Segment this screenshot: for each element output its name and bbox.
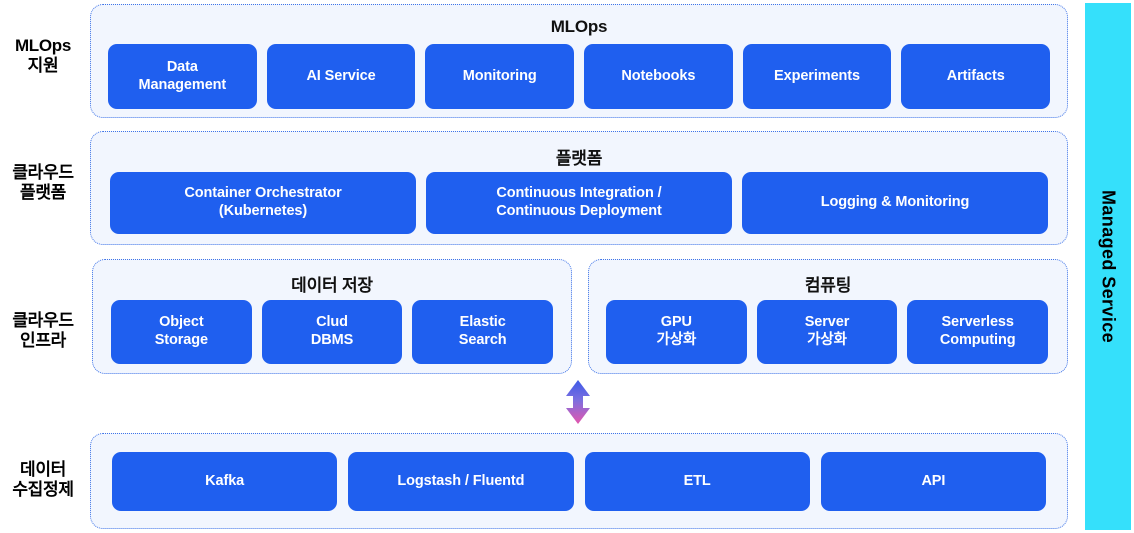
box-label-line-1: Server: [805, 314, 850, 332]
box-label-line-2: Continuous Deployment: [496, 203, 661, 221]
box-label-line-1: Monitoring: [463, 68, 537, 86]
box-ci-cd[interactable]: Continuous Integration / Continuous Depl…: [426, 172, 732, 234]
box-label-line-1: Notebooks: [621, 68, 695, 86]
box-artifacts[interactable]: Artifacts: [901, 44, 1050, 109]
box-logstash-fluentd[interactable]: Logstash / Fluentd: [348, 452, 573, 511]
box-api[interactable]: API: [821, 452, 1046, 511]
box-label-line-2: DBMS: [311, 332, 353, 350]
row-label-line-2: 지원: [0, 56, 86, 76]
row-label-data-ingestion: 데이터 수집정제: [0, 460, 86, 500]
box-row-mlops: Data Management AI Service Monitoring No…: [108, 44, 1050, 109]
box-object-storage[interactable]: Object Storage: [111, 300, 252, 364]
box-data-management[interactable]: Data Management: [108, 44, 257, 109]
row-label-line-1: MLOps: [0, 36, 86, 56]
box-label-line-2: (Kubernetes): [184, 203, 341, 221]
row-label-line-1: 클라우드: [0, 163, 86, 183]
box-label-line-1: Clud: [311, 314, 353, 332]
box-row-data-ingestion: Kafka Logstash / Fluentd ETL API: [112, 452, 1046, 511]
box-label-line-1: Elastic: [459, 314, 507, 332]
box-label-line-2: Storage: [155, 332, 208, 350]
box-label-line-1: Experiments: [774, 68, 860, 86]
box-etl[interactable]: ETL: [585, 452, 810, 511]
row-label-line-1: 클라우드: [0, 311, 86, 331]
managed-service-bar: Managed Service: [1085, 3, 1131, 530]
group-title-mlops: MLOps: [91, 17, 1067, 37]
box-label-line-2: 가상화: [805, 332, 850, 350]
box-label-line-1: Container Orchestrator: [184, 185, 341, 203]
row-label-line-2: 인프라: [0, 331, 86, 351]
architecture-diagram: MLOps 지원 MLOps Data Management AI Servic…: [0, 0, 1134, 533]
box-elastic-search[interactable]: Elastic Search: [412, 300, 553, 364]
bidirectional-arrow-icon: [560, 379, 596, 425]
box-label-line-1: GPU: [656, 314, 696, 332]
box-label-line-1: Serverless: [940, 314, 1016, 332]
box-cloud-dbms[interactable]: Clud DBMS: [262, 300, 403, 364]
box-serverless-computing[interactable]: Serverless Computing: [907, 300, 1048, 364]
box-notebooks[interactable]: Notebooks: [584, 44, 733, 109]
box-label-line-1: ETL: [684, 473, 711, 491]
box-ai-service[interactable]: AI Service: [267, 44, 416, 109]
box-label-line-1: API: [921, 473, 945, 491]
box-logging-monitoring[interactable]: Logging & Monitoring: [742, 172, 1048, 234]
box-label-line-2: Search: [459, 332, 507, 350]
box-label-line-1: AI Service: [306, 68, 375, 86]
row-label-line-2: 플랫폼: [0, 183, 86, 203]
row-label-cloud-platform: 클라우드 플랫폼: [0, 163, 86, 203]
group-title-data-storage: 데이터 저장: [93, 271, 571, 296]
row-label-line-2: 수집정제: [0, 480, 86, 500]
box-server-virtualization[interactable]: Server 가상화: [757, 300, 898, 364]
box-monitoring[interactable]: Monitoring: [425, 44, 574, 109]
box-gpu-virtualization[interactable]: GPU 가상화: [606, 300, 747, 364]
row-label-line-1: 데이터: [0, 460, 86, 480]
row-label-mlops-support: MLOps 지원: [0, 36, 86, 76]
group-title-platform: 플랫폼: [91, 144, 1067, 169]
box-label-line-1: Artifacts: [947, 68, 1005, 86]
box-label-line-2: 가상화: [656, 332, 696, 350]
box-label-line-2: Management: [139, 77, 227, 95]
box-row-platform: Container Orchestrator (Kubernetes) Cont…: [110, 172, 1048, 234]
box-row-data-storage: Object Storage Clud DBMS Elastic Search: [111, 300, 553, 364]
row-label-cloud-infra: 클라우드 인프라: [0, 311, 86, 351]
box-label-line-1: Continuous Integration /: [496, 185, 661, 203]
box-label-line-1: Logging & Monitoring: [821, 194, 970, 212]
box-label-line-1: Kafka: [205, 473, 244, 491]
box-row-computing: GPU 가상화 Server 가상화 Serverless Computing: [606, 300, 1048, 364]
box-label-line-1: Data: [139, 59, 227, 77]
box-label-line-1: Logstash / Fluentd: [397, 473, 524, 491]
box-label-line-1: Object: [155, 314, 208, 332]
box-label-line-2: Computing: [940, 332, 1016, 350]
box-container-orchestrator[interactable]: Container Orchestrator (Kubernetes): [110, 172, 416, 234]
box-experiments[interactable]: Experiments: [743, 44, 892, 109]
managed-service-label: Managed Service: [1098, 190, 1119, 343]
group-title-computing: 컴퓨팅: [589, 271, 1067, 296]
box-kafka[interactable]: Kafka: [112, 452, 337, 511]
